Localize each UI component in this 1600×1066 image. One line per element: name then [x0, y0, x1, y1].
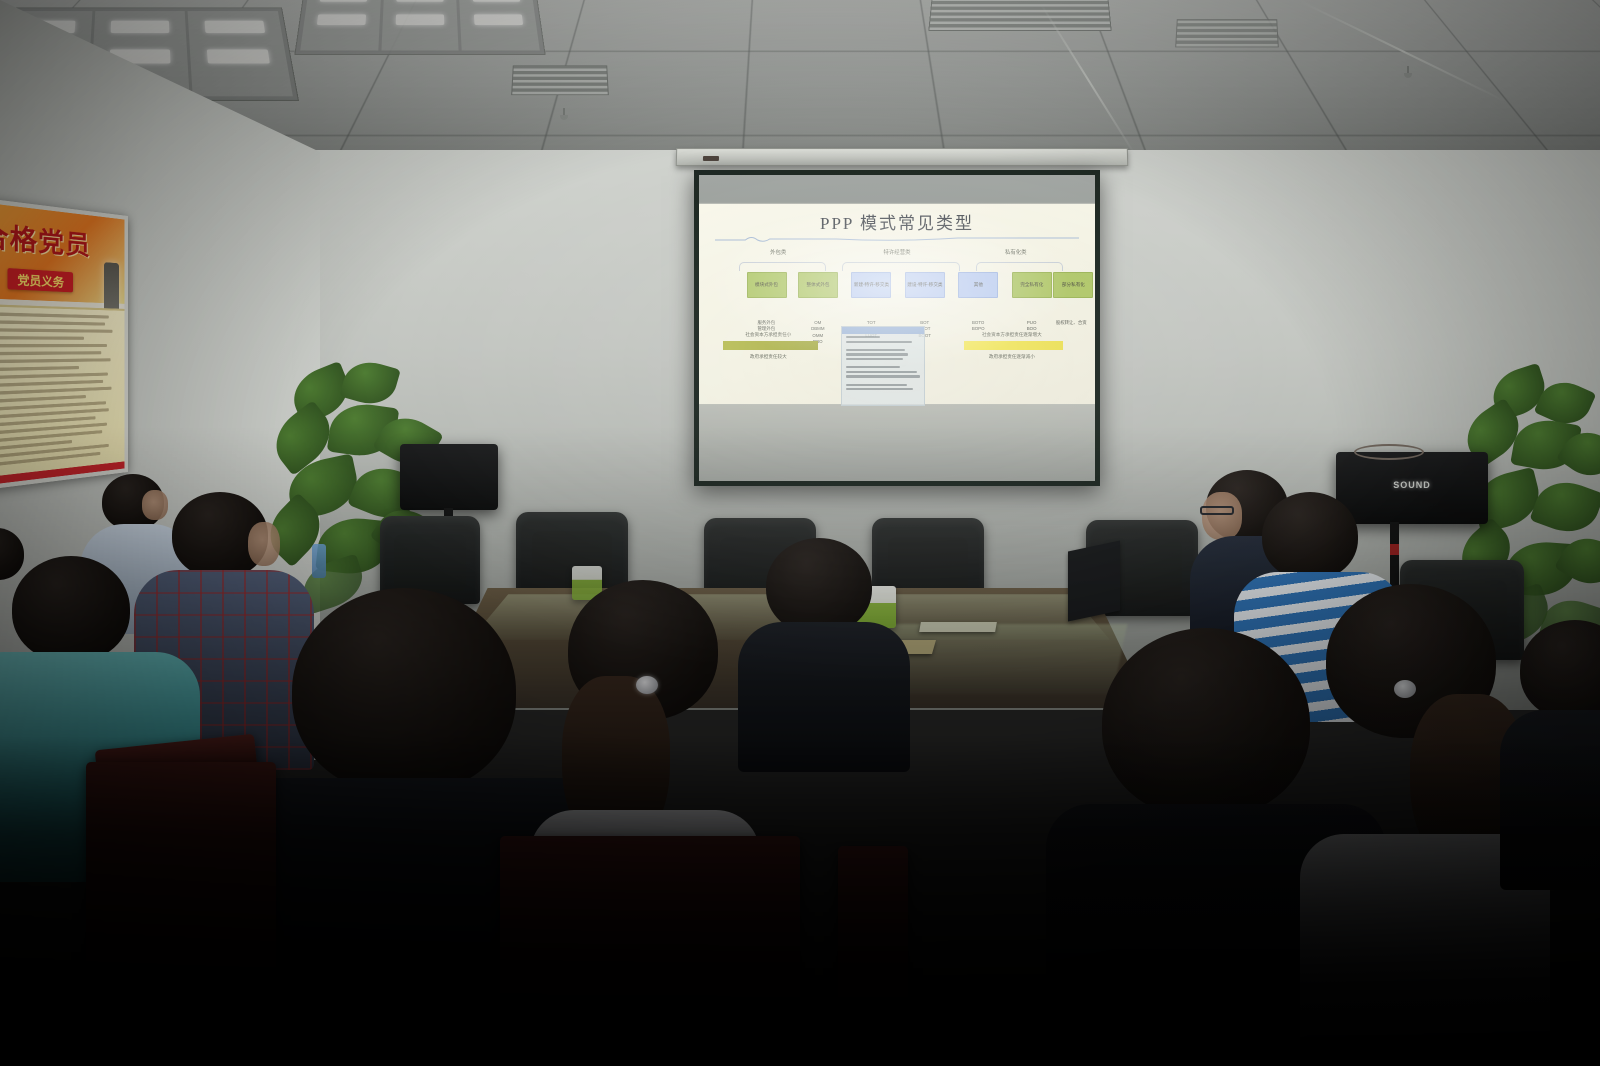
slide-box: 完全私有化: [1012, 272, 1052, 298]
slide-box-row: 模块式外包 整体式外包 新建-特许-移交类 建设-特许-移交类 其他 完全私有化…: [699, 272, 1095, 318]
hair-clip: [1394, 680, 1416, 698]
slide-box-label: 部分私有化: [1062, 282, 1085, 288]
slide-box-sublist: 服务外包 管理外包: [739, 320, 793, 333]
slide-box-label: 建设-特许-移交类: [907, 282, 942, 288]
bar-bottom-label: 政府承担责任较大: [750, 354, 787, 360]
wooden-chair-back: [500, 836, 800, 1066]
wooden-chair-back: [86, 762, 276, 1062]
slide-category-label: 特许经营类: [884, 248, 911, 256]
document-stack: [919, 622, 997, 632]
slide-box: 模块式外包: [747, 272, 787, 298]
slide-category-label: 私有化类: [1005, 248, 1027, 256]
slide-box: 新建-特许-移交类: [851, 272, 891, 298]
eyeglasses-icon: [1200, 506, 1234, 515]
poster-body-text: [0, 304, 124, 479]
slide-box-label: 模块式外包: [755, 282, 778, 288]
housing-slot-icon: [703, 156, 719, 161]
bar-top-label: 社会资本方承担责任小: [745, 332, 791, 338]
slide-detail-panel-header: [842, 327, 924, 334]
wooden-chair-back: [838, 846, 908, 1066]
slide-box-sublist: 股权转让、合资: [1044, 320, 1095, 326]
slide-box: 建设-特许-移交类: [905, 272, 945, 298]
responsibility-bar-left: [723, 341, 818, 350]
slide-box: 整体式外包: [798, 272, 838, 298]
slide-category-row: 外包类 特许经营类 私有化类: [699, 248, 1095, 260]
slide-box: 其他: [958, 272, 998, 298]
left-speaker: [400, 444, 498, 510]
stand-lock-knob: [1390, 544, 1399, 555]
title-underline-wave: [715, 234, 1079, 244]
poster-ribbon-label: 党员义务: [7, 268, 73, 292]
brace-privatization: [976, 262, 1063, 271]
slide-category-label: 外包类: [770, 248, 786, 256]
party-member-poster: 合格党员 党员义务: [0, 198, 128, 490]
responsibility-bar-right: [964, 341, 1063, 350]
speaker-cable-coil: [1354, 444, 1424, 460]
presentation-slide: PPP 模式常见类型 外包类 特许经营类 私有化类 模块式外包 整体式外包: [699, 204, 1095, 404]
slide-box: 部分私有化: [1053, 272, 1093, 298]
slide-title: PPP 模式常见类型: [699, 209, 1095, 234]
laptop-lid: [1068, 540, 1120, 621]
slide-box-label: 整体式外包: [807, 282, 830, 288]
speaker-brand-label: SOUND: [1393, 480, 1431, 490]
water-bottle: [312, 544, 326, 578]
bar-bottom-label: 政府承担责任逐渐减小: [989, 354, 1035, 360]
slide-box-label: 新建-特许-移交类: [854, 282, 889, 288]
brace-concession: [842, 262, 961, 271]
projection-screen-housing: [676, 148, 1128, 166]
poster-title: 合格党员: [0, 214, 106, 265]
brace-outsourcing: [739, 262, 826, 271]
slide-box-label: 完全私有化: [1020, 282, 1043, 288]
projection-screen: PPP 模式常见类型 外包类 特许经营类 私有化类 模块式外包 整体式外包: [694, 170, 1100, 486]
slide-box-label: 其他: [974, 282, 983, 288]
slide-box-sublist: BOTO BOPO: [951, 320, 1005, 333]
right-speaker: SOUND: [1336, 452, 1488, 524]
conference-room-scene: 合格党员 党员义务 PPP 模式常见类型: [0, 0, 1600, 1066]
hair-clip: [636, 676, 658, 694]
slide-detail-panel: [841, 326, 925, 406]
bar-top-label: 社会资本方承担责任逐渐增大: [982, 332, 1042, 338]
